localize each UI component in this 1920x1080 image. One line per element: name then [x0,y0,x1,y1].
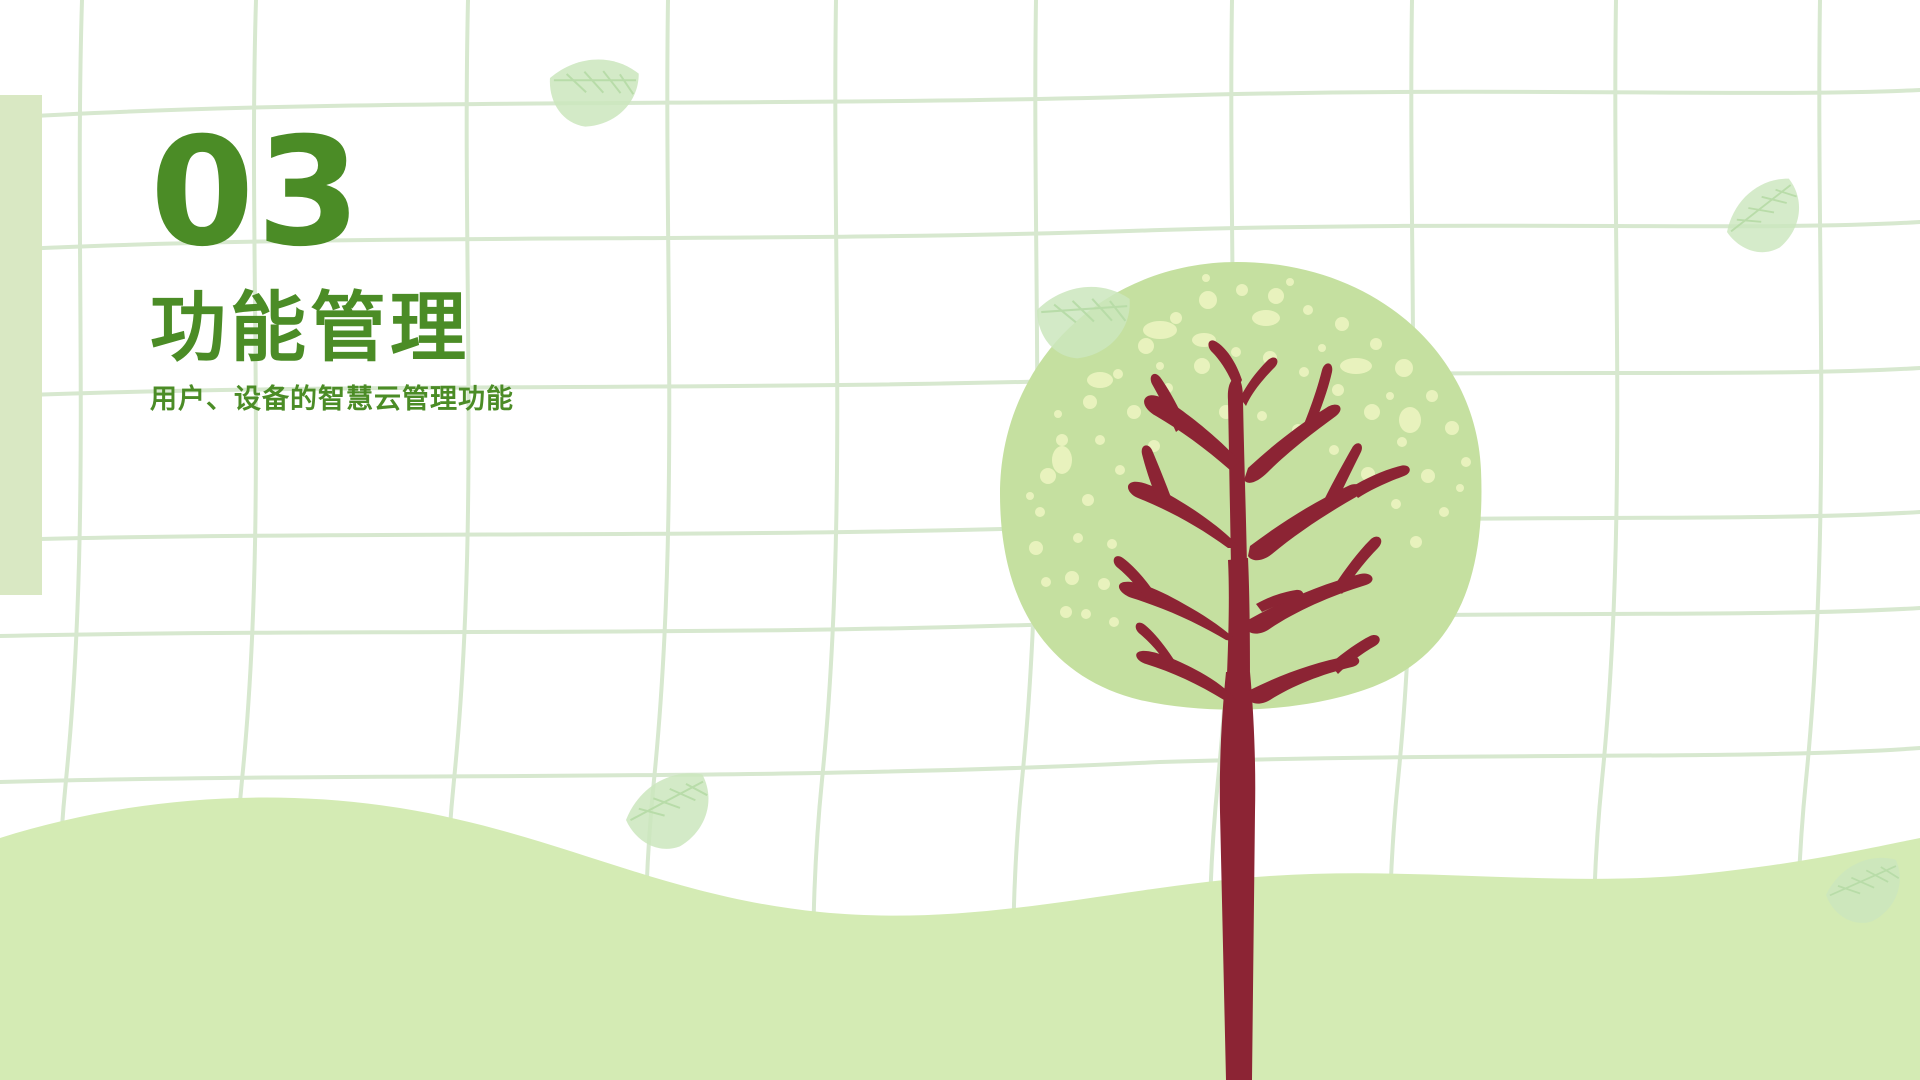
page-title: 功能管理 [150,288,910,368]
section-number: 03 [150,118,910,268]
floating-leaf-lower-left [620,753,722,862]
page-subtitle: 用户、设备的智慧云管理功能 [150,382,910,417]
title-block: 03 功能管理 用户、设备的智慧云管理功能 [150,118,910,417]
floating-leaf-upper-mid [1028,260,1145,374]
floating-leaf-lower-right [1820,838,1912,935]
floating-leaf-upper-right [1723,165,1809,261]
slide-canvas: 03 功能管理 用户、设备的智慧云管理功能 [0,0,1920,1080]
